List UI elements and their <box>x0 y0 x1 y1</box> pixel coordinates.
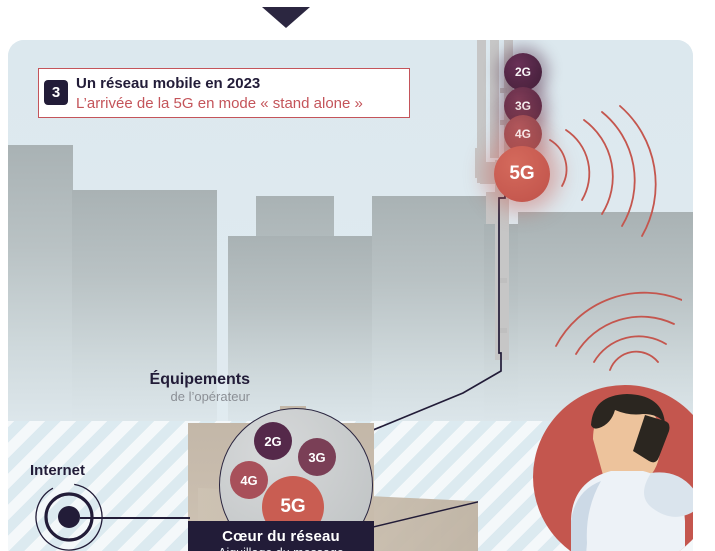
antenna-mast-bar-mid <box>490 40 499 158</box>
equipment-label: Équipements de l’opérateur <box>130 370 250 405</box>
infographic-canvas: 2G 3G 4G 5G 2G 3G 4G 5G Cœur du r <box>0 0 715 551</box>
core-bubble-4g: 4G <box>230 461 268 499</box>
internet-label: Internet <box>30 462 85 479</box>
core-bubble-3g: 3G <box>298 438 336 476</box>
triangle-down-icon <box>262 7 310 28</box>
core-bubble-2g: 2G <box>254 422 292 460</box>
title-line-2: L’arrivée de la 5G en mode « stand alone… <box>76 94 396 114</box>
user-signal-waves <box>532 266 682 381</box>
core-network-banner: Cœur du réseau Aiguillage du message <box>188 521 374 551</box>
user-illustration <box>527 377 693 551</box>
antenna-mast-rung-1 <box>500 88 507 93</box>
title-line-1: Un réseau mobile en 2023 <box>76 74 396 94</box>
antenna-bubble-2g: 2G <box>504 53 542 91</box>
antenna-bubble-5g: 5G <box>494 146 550 202</box>
equipment-label-line2: de l’opérateur <box>130 389 250 405</box>
step-badge: 3 <box>44 80 68 105</box>
internet-globe-icon <box>33 481 105 551</box>
title-text: Un réseau mobile en 2023 L’arrivée de la… <box>76 74 396 114</box>
core-banner-title: Cœur du réseau <box>222 528 340 545</box>
equipment-label-line1: Équipements <box>130 370 250 389</box>
core-banner-subtitle: Aiguillage du message <box>218 546 344 551</box>
building-1 <box>8 145 73 435</box>
antenna-signal-waves <box>544 78 674 238</box>
